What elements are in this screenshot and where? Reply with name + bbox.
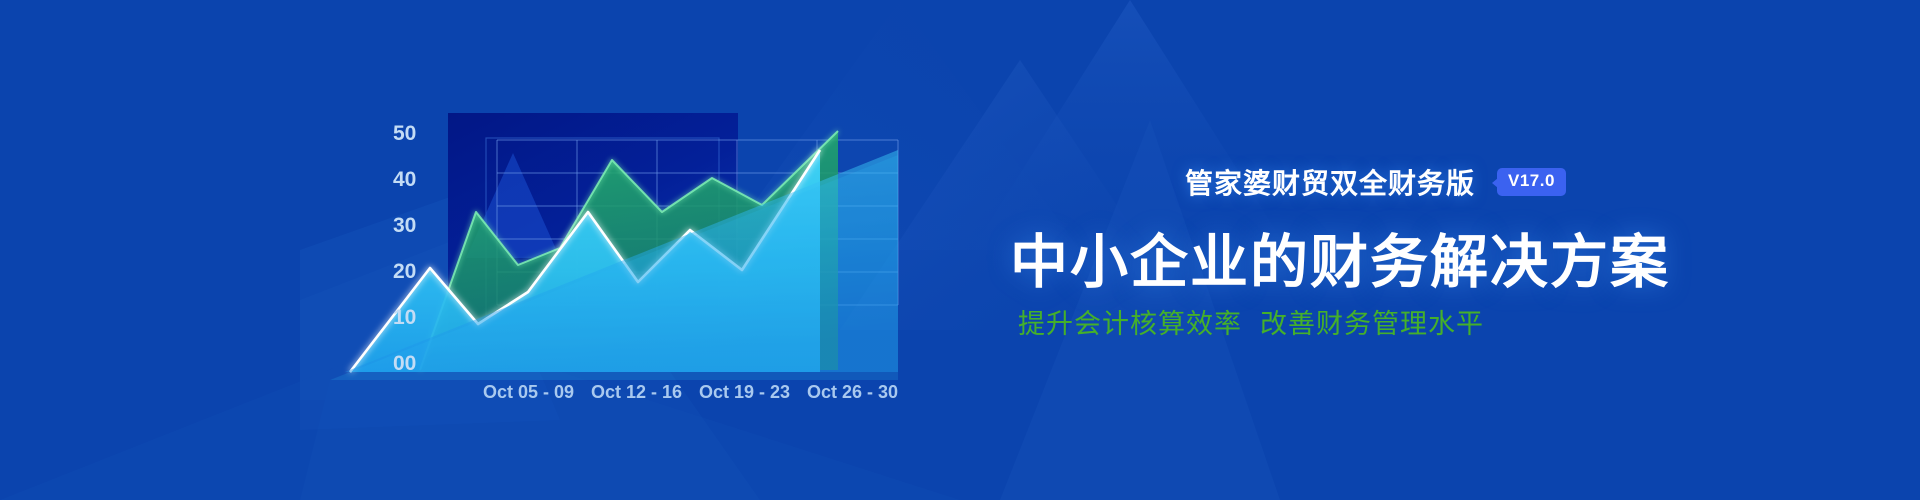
version-badge-wrapper: V17.0 — [1497, 168, 1566, 196]
y-tick-2: 30 — [393, 214, 416, 237]
subheadline: 提升会计核算效率改善财务管理水平 — [1018, 302, 1484, 341]
y-tick-0: 50 — [393, 122, 416, 145]
product-name: 管家婆财贸双全财务版 — [1185, 162, 1475, 202]
chart-illustration: 50 40 30 20 10 00 Oct 05 - 09 Oct 12 - 1… — [0, 0, 960, 500]
x-tick-1: Oct 12 - 16 — [591, 382, 682, 402]
y-tick-5: 00 — [393, 352, 416, 375]
chart-svg: 50 40 30 20 10 00 Oct 05 - 09 Oct 12 - 1… — [0, 0, 960, 500]
x-tick-0: Oct 05 - 09 — [483, 382, 574, 402]
y-tick-4: 10 — [393, 306, 416, 329]
subheadline-part-2: 改善财务管理水平 — [1260, 309, 1484, 339]
subheadline-part-1: 提升会计核算效率 — [1018, 309, 1242, 339]
headline: 中小企业的财务解决方案 — [1010, 215, 1670, 299]
x-tick-3: Oct 26 - 30 — [807, 382, 898, 402]
y-tick-3: 20 — [393, 260, 416, 283]
banner-text-block: 管家婆财贸双全财务版 V17.0 中小企业的财务解决方案 提升会计核算效率改善财… — [1010, 0, 1770, 500]
product-eyebrow-row: 管家婆财贸双全财务版 V17.0 — [1185, 162, 1566, 202]
chart-x-axis-labels: Oct 05 - 09 Oct 12 - 16 Oct 19 - 23 Oct … — [483, 382, 898, 402]
version-badge: V17.0 — [1497, 168, 1566, 196]
promo-banner: 50 40 30 20 10 00 Oct 05 - 09 Oct 12 - 1… — [0, 0, 1920, 500]
x-tick-2: Oct 19 - 23 — [699, 382, 790, 402]
y-tick-1: 40 — [393, 168, 416, 191]
